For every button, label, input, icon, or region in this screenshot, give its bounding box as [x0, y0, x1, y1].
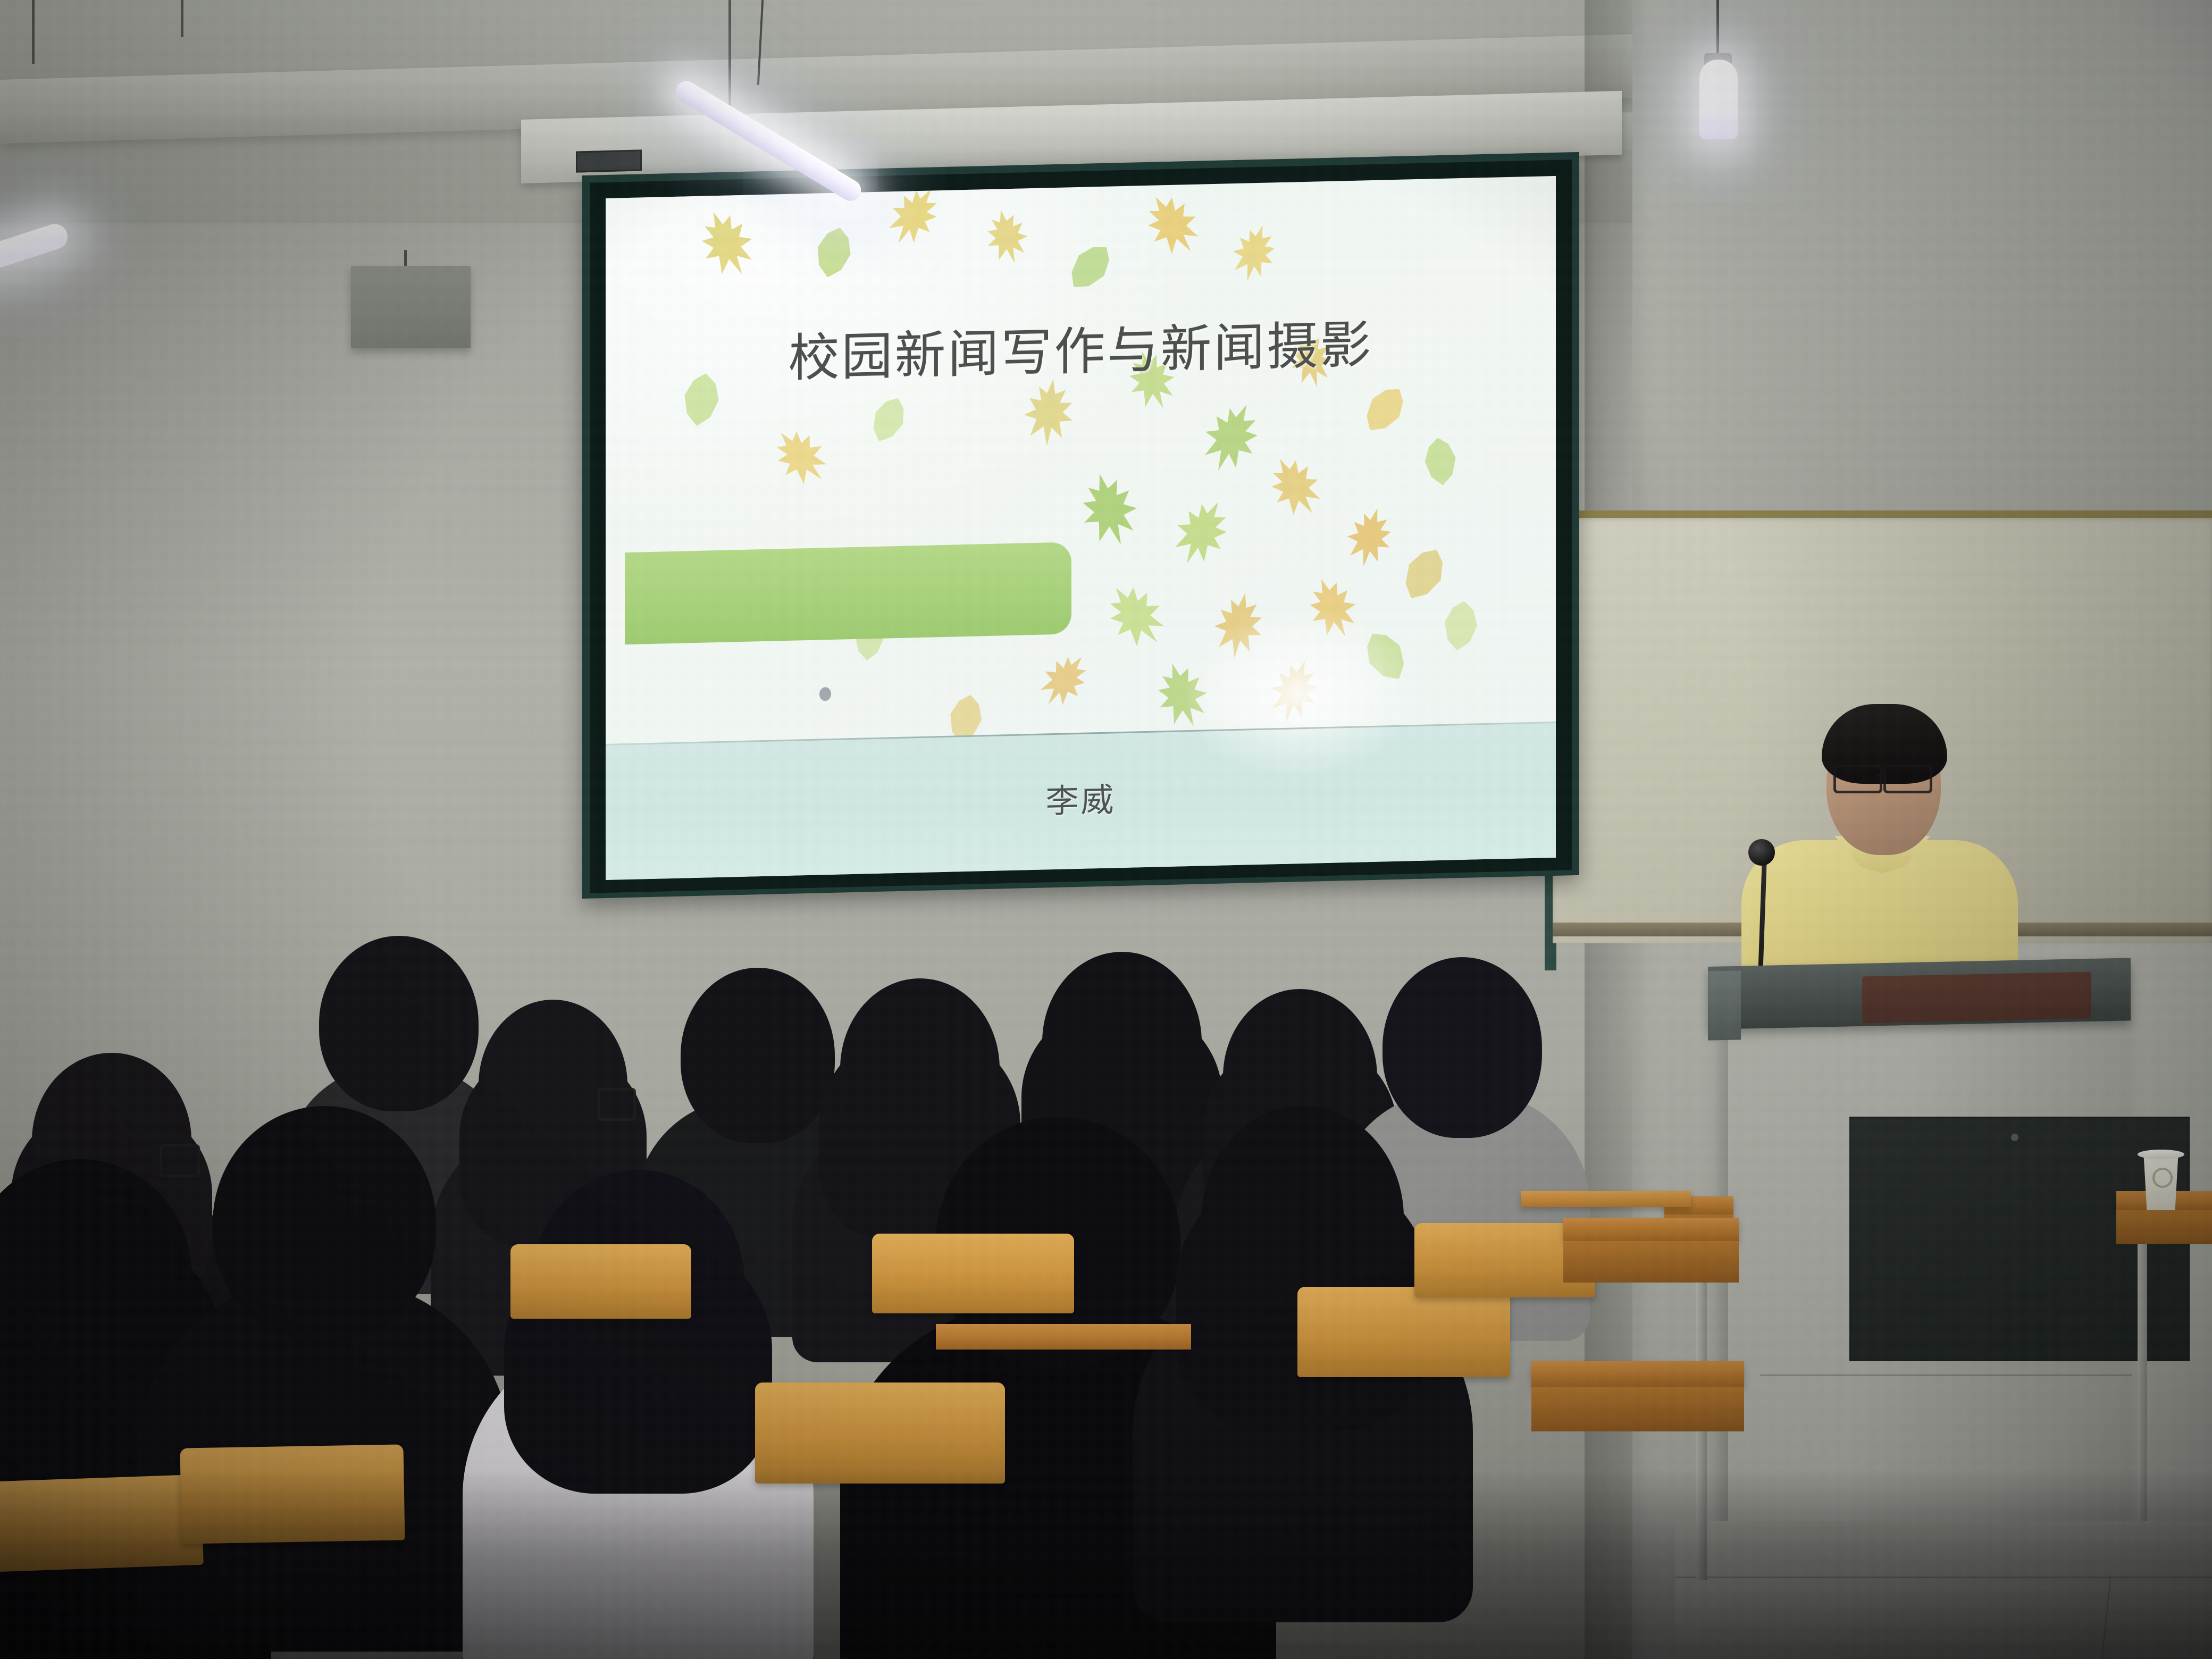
leaf-icon	[1225, 219, 1283, 286]
presentation-slide: 校园新闻写作与新闻摄影 李威	[606, 176, 1556, 880]
podium-seam	[1760, 1375, 2132, 1376]
chair-back	[755, 1382, 1005, 1484]
audience-member-head	[213, 1106, 436, 1340]
ceiling-rod	[728, 0, 731, 122]
leaf-icon	[1438, 599, 1482, 653]
leaf-icon	[864, 391, 914, 448]
leaf-icon	[981, 205, 1033, 269]
side-desk-front	[2116, 1210, 2212, 1244]
student-desk	[1521, 1191, 1691, 1207]
leaf-icon	[1162, 490, 1241, 574]
ceiling-rod	[181, 0, 183, 37]
leaf-icon	[1394, 541, 1455, 607]
side-desk-leg	[2138, 1244, 2147, 1521]
leaf-icon	[1094, 573, 1176, 659]
paper-cup-rim	[2138, 1150, 2184, 1159]
slide-leaf-decoration	[606, 176, 1556, 198]
wall-speaker-icon	[351, 266, 471, 348]
leaf-icon	[809, 223, 859, 281]
projection-screen: 校园新闻写作与新闻摄影 李威	[582, 152, 1579, 899]
lecture-hall-photo: 校园新闻写作与新闻摄影 李威	[0, 0, 2212, 1659]
leaf-icon	[1355, 378, 1414, 440]
paper-cup-logo-icon	[2152, 1168, 2173, 1188]
leaf-icon	[1073, 467, 1144, 554]
leaf-icon	[1029, 644, 1099, 715]
leaf-icon	[690, 202, 763, 286]
audience-member	[1202, 1106, 1404, 1659]
ceiling-rod	[32, 0, 35, 64]
student-desk-leg	[1696, 1283, 1707, 1580]
chair-back	[0, 1474, 204, 1573]
housing-label	[576, 149, 642, 172]
slide-green-banner	[625, 542, 1071, 644]
leaf-icon	[1420, 435, 1460, 488]
audience-member	[532, 1170, 744, 1659]
leaf-icon	[763, 418, 838, 496]
leaf-icon	[1059, 236, 1120, 299]
leaf-icon	[1259, 447, 1331, 526]
slide-title: 校园新闻写作与新闻摄影	[606, 299, 1556, 395]
student-desk	[1531, 1361, 1744, 1387]
student-desk-front	[1563, 1241, 1739, 1283]
presenter-glasses-icon	[1883, 765, 1932, 793]
leaf-icon	[1134, 184, 1210, 266]
microphone-icon[interactable]	[1748, 839, 1775, 866]
leaf-icon	[1191, 394, 1270, 481]
student-desk	[936, 1324, 1191, 1350]
student-desk	[1563, 1218, 1739, 1241]
podium-panel-indicator-icon	[2011, 1134, 2018, 1141]
leaf-icon	[1339, 503, 1399, 572]
chair-back	[1297, 1287, 1510, 1377]
audience-member-head	[479, 1000, 627, 1170]
student-desk-front	[1531, 1387, 1744, 1431]
audience-member-head	[1042, 952, 1202, 1133]
audience-member-head	[0, 1159, 191, 1388]
chair-back	[510, 1244, 691, 1319]
slide-bullet-dot	[819, 687, 831, 701]
chair-back	[180, 1444, 405, 1544]
pendant-light-wire	[1716, 0, 1719, 56]
audience-member	[213, 1106, 436, 1659]
floor-tile-line	[1675, 1577, 2212, 1578]
chair-back	[872, 1234, 1074, 1313]
audience-member-glasses-icon	[598, 1088, 636, 1120]
pendant-light-icon	[1699, 60, 1738, 139]
audience-member-head	[1382, 957, 1542, 1138]
podium-wood-inset	[1862, 971, 2091, 1023]
projector-hotspot	[1176, 602, 1423, 785]
presenter	[1771, 681, 1994, 1010]
floor	[1675, 1521, 2212, 1659]
leaf-icon	[877, 177, 950, 255]
audience-member-head	[319, 936, 479, 1111]
screen-inner-bezel: 校园新闻写作与新闻摄影 李威	[590, 160, 1572, 893]
presenter-glasses-icon	[1833, 765, 1882, 793]
presenter-glasses-bridge	[1877, 774, 1884, 777]
audience-member-head	[681, 968, 835, 1143]
leaf-icon	[1019, 376, 1078, 448]
podium-top-side	[1708, 970, 1741, 1040]
